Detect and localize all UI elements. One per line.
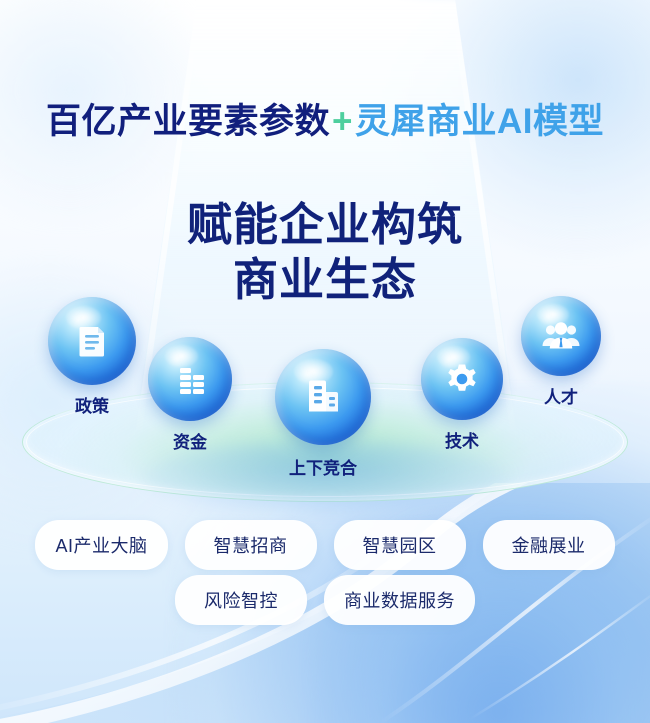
headline-line-1: 赋能企业构筑 <box>187 199 463 250</box>
ecosystem-node-tech[interactable]: 技术 <box>421 338 503 452</box>
subtitle-plus-sign: + <box>330 102 355 141</box>
gear-icon <box>421 338 503 420</box>
node-sphere <box>48 297 136 385</box>
node-label: 政策 <box>48 392 136 417</box>
subtitle-part-blue: 灵犀商业AI模型 <box>355 102 604 141</box>
node-sphere <box>148 337 232 421</box>
ecosystem-node-center[interactable]: 上下竞合 <box>275 349 371 479</box>
node-sphere <box>421 338 503 420</box>
tag-row-1: AI产业大脑 智慧招商 智慧园区 金融展业 <box>0 520 650 570</box>
tag-pill[interactable]: 智慧园区 <box>334 520 466 570</box>
document-icon <box>48 297 136 385</box>
tag-pill[interactable]: AI产业大脑 <box>35 520 167 570</box>
node-label: 技术 <box>421 427 503 452</box>
promo-banner: 百亿产业要素参数+灵犀商业AI模型 赋能企业构筑 商业生态 政策 <box>0 0 650 723</box>
ecosystem-node-policy[interactable]: 政策 <box>48 297 136 417</box>
building-icon <box>275 349 371 445</box>
node-label: 资金 <box>148 428 232 453</box>
node-label: 上下竞合 <box>275 454 371 479</box>
bar-chart-icon <box>148 337 232 421</box>
tag-pill[interactable]: 智慧招商 <box>185 520 317 570</box>
node-sphere <box>275 349 371 445</box>
node-sphere <box>521 296 601 376</box>
tag-pill[interactable]: 风险智控 <box>175 575 307 625</box>
tag-pill[interactable]: 金融展业 <box>483 520 615 570</box>
ecosystem-node-fund[interactable]: 资金 <box>148 337 232 453</box>
subtitle-part-dark: 百亿产业要素参数 <box>46 102 330 141</box>
banner-subtitle: 百亿产业要素参数+灵犀商业AI模型 <box>0 104 650 139</box>
ecosystem-node-talent[interactable]: 人才 <box>521 296 601 408</box>
tag-row-2: 风险智控 商业数据服务 <box>0 575 650 625</box>
tag-pill[interactable]: 商业数据服务 <box>324 575 475 625</box>
node-label: 人才 <box>521 383 601 408</box>
page-title: 赋能企业构筑 商业生态 <box>0 198 650 308</box>
people-group-icon <box>521 296 601 376</box>
